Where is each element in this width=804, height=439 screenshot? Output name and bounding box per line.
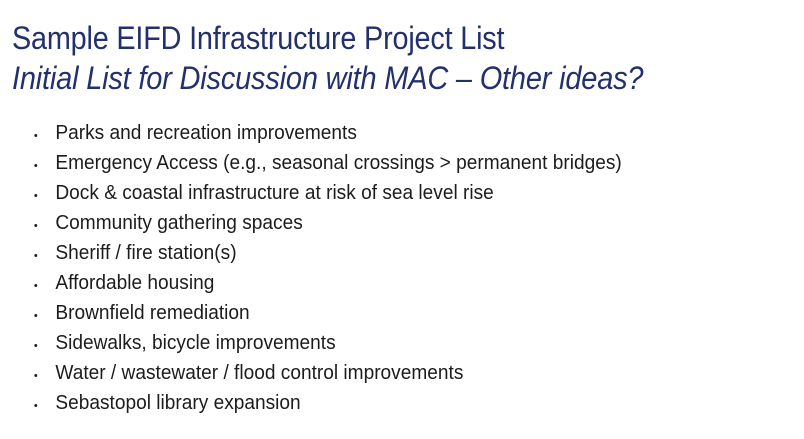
dot-bullet-icon <box>34 224 37 227</box>
list-item: Community gathering spaces <box>0 208 768 238</box>
dot-bullet-icon <box>34 344 37 347</box>
list-item: Emergency Access (e.g., seasonal crossin… <box>0 148 768 178</box>
list-item-label: Community gathering spaces <box>55 208 302 238</box>
dot-bullet-icon <box>34 164 37 167</box>
list-item-label: Brownfield remediation <box>55 298 249 328</box>
list-item-label: Dock & coastal infrastructure at risk of… <box>55 178 493 208</box>
list-item: Sebastopol library expansion <box>0 388 768 418</box>
project-list: Parks and recreation improvements Emerge… <box>0 118 804 418</box>
list-item-label: Affordable housing <box>55 268 214 298</box>
list-item: Brownfield remediation <box>0 298 768 328</box>
list-item-label: Sheriff / fire station(s) <box>55 238 236 268</box>
list-item-label: Water / wastewater / flood control impro… <box>55 358 463 388</box>
dot-bullet-icon <box>34 314 37 317</box>
list-item-label: Emergency Access (e.g., seasonal crossin… <box>55 148 621 178</box>
dot-bullet-icon <box>34 254 37 257</box>
list-item-label: Sebastopol library expansion <box>55 388 300 418</box>
slide-canvas: Sample EIFD Infrastructure Project List … <box>0 0 804 439</box>
list-item: Sidewalks, bicycle improvements <box>0 328 768 358</box>
dot-bullet-icon <box>34 134 37 137</box>
dot-bullet-icon <box>34 284 37 287</box>
slide-title-block: Sample EIFD Infrastructure Project List … <box>12 18 802 98</box>
list-item-label: Parks and recreation improvements <box>55 118 356 148</box>
dot-bullet-icon <box>34 374 37 377</box>
page-title-line-1: Sample EIFD Infrastructure Project List <box>12 18 723 58</box>
list-item-label: Sidewalks, bicycle improvements <box>55 328 335 358</box>
list-item: Dock & coastal infrastructure at risk of… <box>0 178 768 208</box>
page-title-line-2: Initial List for Discussion with MAC – O… <box>12 58 727 98</box>
dot-bullet-icon <box>34 404 37 407</box>
dot-bullet-icon <box>34 194 37 197</box>
list-item: Water / wastewater / flood control impro… <box>0 358 768 388</box>
list-item: Sheriff / fire station(s) <box>0 238 768 268</box>
list-item: Parks and recreation improvements <box>0 118 768 148</box>
list-item: Affordable housing <box>0 268 768 298</box>
